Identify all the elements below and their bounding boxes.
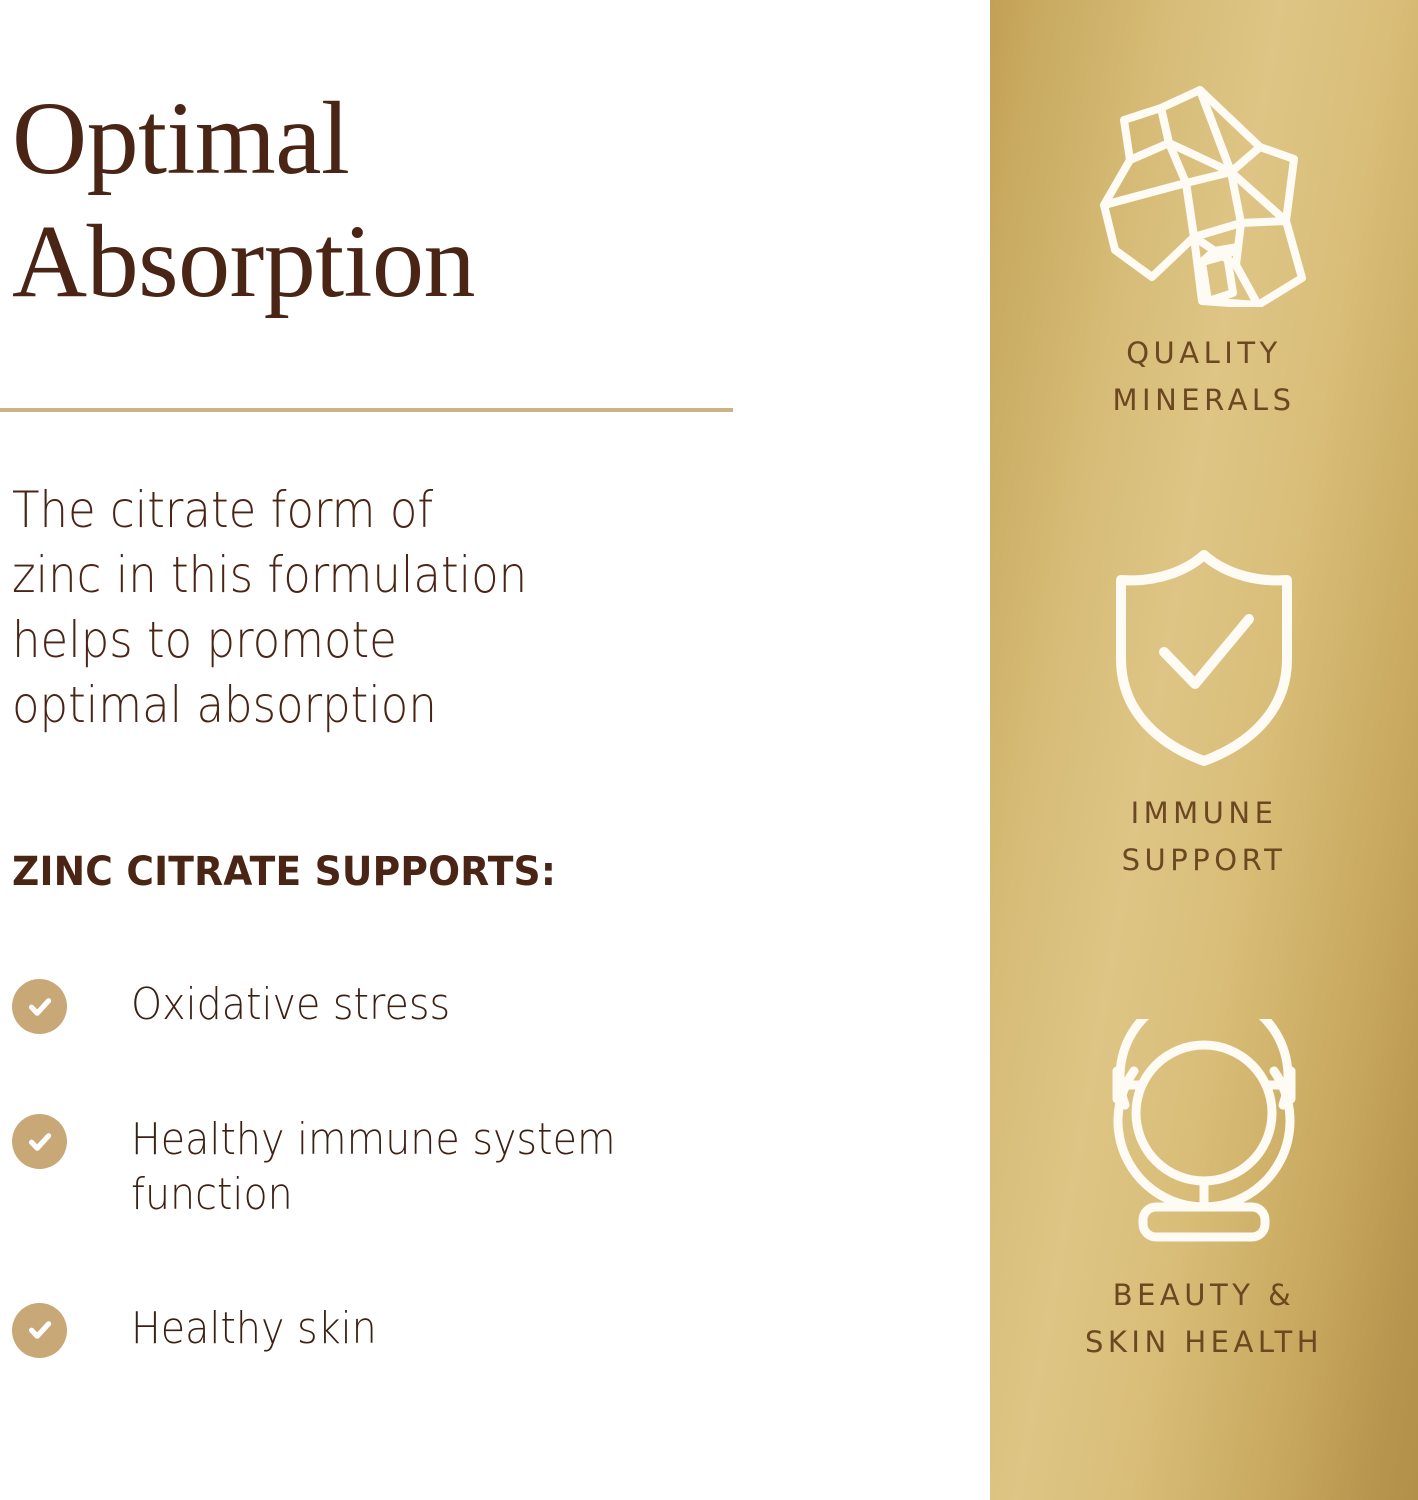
feature-quality-minerals: QUALITY MINERALS [990,78,1418,424]
intro-paragraph: The citrate form of zinc in this formula… [12,478,606,738]
title-divider [0,408,733,412]
left-content-column: Optimal Absorption The citrate form of z… [0,0,990,1500]
list-item: Oxidative stress [12,975,712,1034]
list-item-label: Healthy immune system function [131,1110,616,1223]
check-circle-icon [12,1303,67,1358]
list-item-label: Healthy skin [131,1299,377,1356]
list-item: Healthy skin [12,1299,712,1358]
list-item-label: Oxidative stress [131,975,450,1032]
feature-label: IMMUNE SUPPORT [1122,790,1287,884]
list-item: Healthy immune system function [12,1110,712,1223]
features-gold-panel: QUALITY MINERALS IMMUNE SUPPORT [990,0,1418,1500]
shield-check-icon [1104,548,1304,768]
check-circle-icon [12,979,67,1034]
mineral-crystal-icon [1089,78,1319,308]
feature-immune-support: IMMUNE SUPPORT [990,548,1418,884]
check-circle-icon [12,1114,67,1169]
feature-label: QUALITY MINERALS [1113,330,1296,424]
supports-heading: ZINC CITRATE SUPPORTS: [12,848,556,896]
product-benefits-infographic: Optimal Absorption The citrate form of z… [0,0,1418,1500]
vanity-mirror-icon [1089,1020,1319,1250]
feature-label: BEAUTY & SKIN HEALTH [1085,1272,1323,1366]
page-title: Optimal Absorption [12,78,792,323]
feature-beauty-skin-health: BEAUTY & SKIN HEALTH [990,1020,1418,1366]
benefits-list: Oxidative stress Healthy immune system f… [12,975,712,1358]
